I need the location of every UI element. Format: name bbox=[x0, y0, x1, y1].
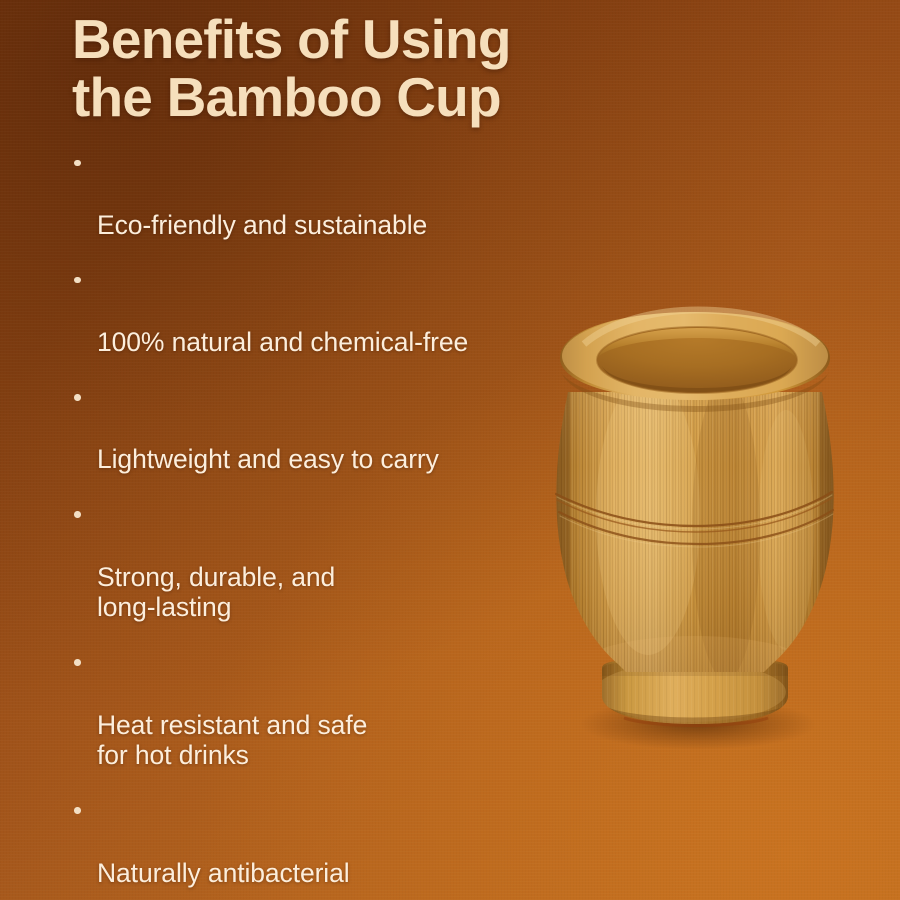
list-item-label: 100% natural and chemical-free bbox=[97, 327, 468, 357]
list-item-label: Lightweight and easy to carry bbox=[97, 444, 439, 474]
list-item: 100% natural and chemical-free bbox=[72, 266, 592, 358]
bullet-dot-icon bbox=[74, 160, 81, 167]
bullet-dot-icon bbox=[74, 394, 81, 401]
poster-canvas: Benefits of Using the Bamboo Cup Eco-fri… bbox=[0, 0, 900, 900]
list-item: Heat resistant and safe for hot drinks bbox=[72, 648, 592, 771]
poster-content: Benefits of Using the Bamboo Cup Eco-fri… bbox=[72, 10, 592, 900]
page-title: Benefits of Using the Bamboo Cup bbox=[72, 10, 592, 127]
bullet-dot-icon bbox=[74, 659, 81, 666]
cup-rim bbox=[560, 310, 830, 412]
list-item-label: Eco-friendly and sustainable bbox=[97, 210, 427, 240]
list-item: Lightweight and easy to carry bbox=[72, 383, 592, 475]
list-item: Eco-friendly and sustainable bbox=[72, 149, 592, 241]
bullet-dot-icon bbox=[74, 807, 81, 814]
list-item-label: Heat resistant and safe for hot drinks bbox=[97, 710, 367, 771]
bullet-dot-icon bbox=[74, 277, 81, 284]
list-item: Strong, durable, and long-lasting bbox=[72, 500, 592, 623]
benefits-list: Eco-friendly and sustainable 100% natura… bbox=[72, 149, 592, 900]
list-item-label: Naturally antibacterial bbox=[97, 858, 350, 888]
list-item: Naturally antibacterial bbox=[72, 796, 592, 888]
list-item-label: Strong, durable, and long-lasting bbox=[97, 562, 335, 623]
bullet-dot-icon bbox=[74, 511, 81, 518]
